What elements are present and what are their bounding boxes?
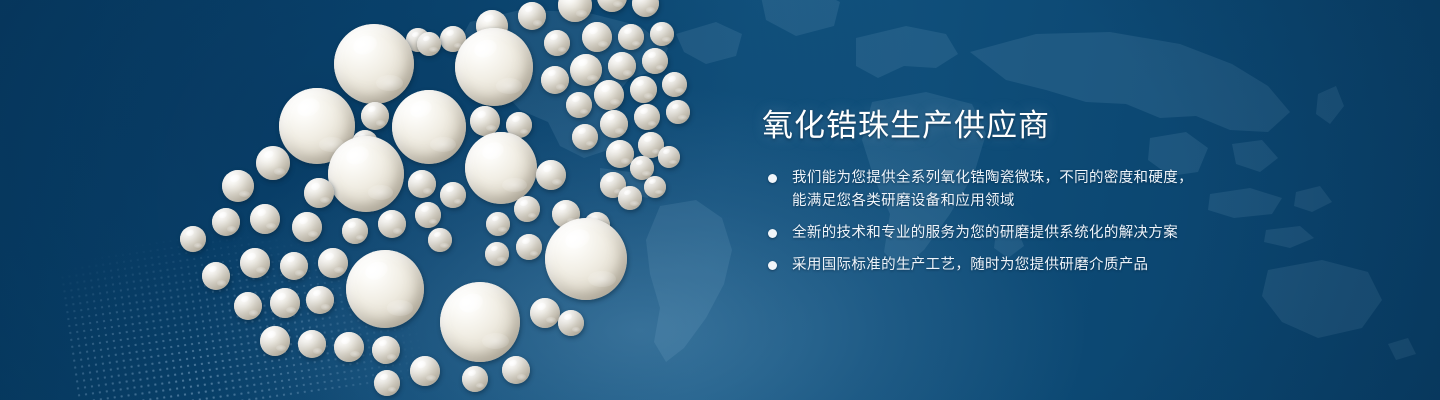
list-item: 全新的技术和专业的服务为您的研磨提供系统化的解决方案 (762, 222, 1232, 245)
list-item: 采用国际标准的生产工艺，随时为您提供研磨介质产品 (762, 254, 1232, 277)
list-item: 我们能为您提供全系列氧化锆陶瓷微珠，不同的密度和硬度， 能满足您各类研磨设备和应… (762, 167, 1232, 213)
hero-banner: 氧化锆珠生产供应商 我们能为您提供全系列氧化锆陶瓷微珠，不同的密度和硬度， 能满… (0, 0, 1440, 400)
bullet-dot-icon (768, 229, 777, 238)
bullet-dot-icon (768, 174, 777, 183)
banner-content: 氧化锆珠生产供应商 我们能为您提供全系列氧化锆陶瓷微珠，不同的密度和硬度， 能满… (762, 106, 1232, 277)
zirconia-beads-image (110, 0, 730, 400)
bullet-dot-icon (768, 261, 777, 270)
feature-list: 我们能为您提供全系列氧化锆陶瓷微珠，不同的密度和硬度， 能满足您各类研磨设备和应… (762, 167, 1232, 277)
list-item-line: 我们能为您提供全系列氧化锆陶瓷微珠，不同的密度和硬度， (792, 167, 1232, 190)
list-item-line: 全新的技术和专业的服务为您的研磨提供系统化的解决方案 (792, 222, 1232, 245)
page-title: 氧化锆珠生产供应商 (762, 106, 1232, 146)
list-item-line: 采用国际标准的生产工艺，随时为您提供研磨介质产品 (792, 254, 1232, 277)
list-item-line: 能满足您各类研磨设备和应用领域 (792, 190, 1232, 213)
